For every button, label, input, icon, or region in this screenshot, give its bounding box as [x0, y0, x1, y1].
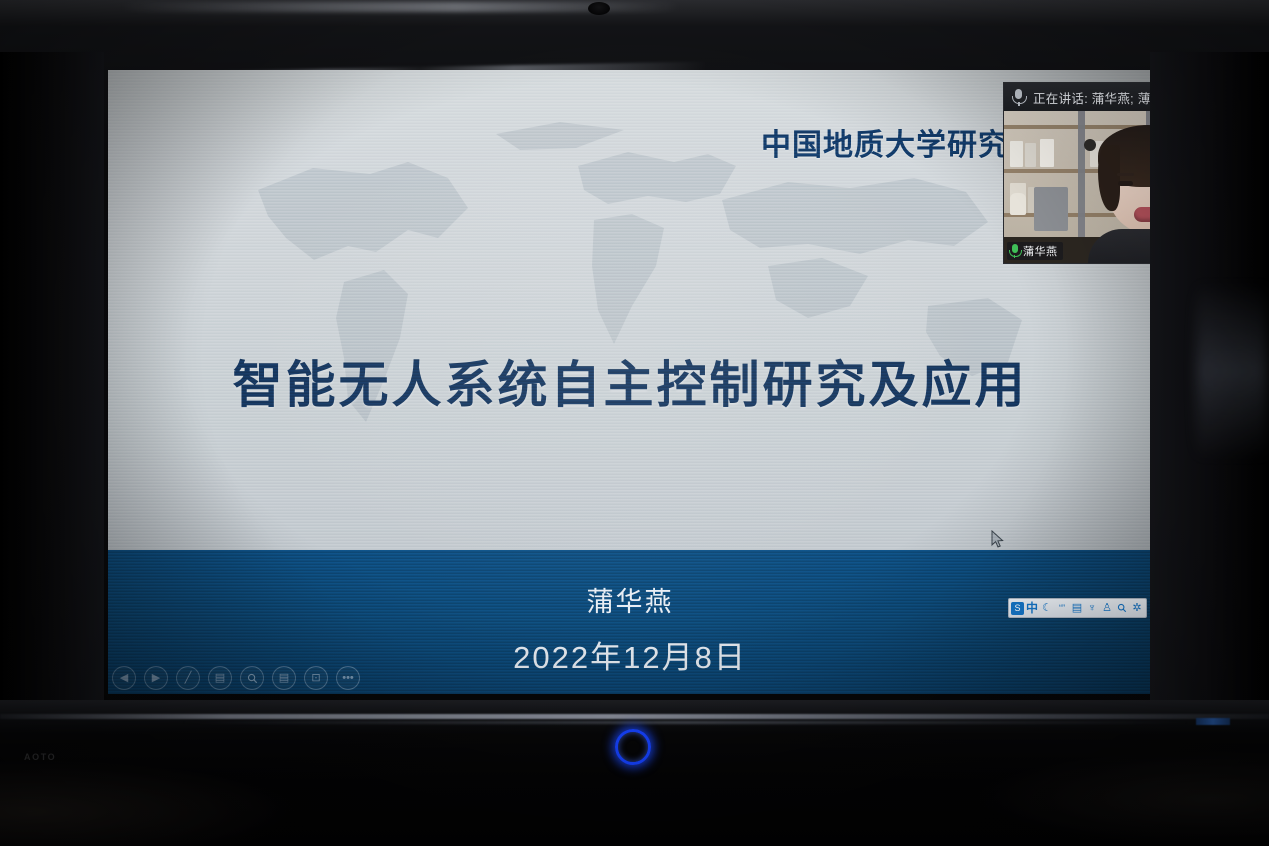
participant-brow-left: [1117, 173, 1134, 176]
slide-main-title: 智能无人系统自主控制研究及应用: [108, 345, 1152, 417]
pen-tool-button[interactable]: ╱: [176, 666, 200, 690]
ime-punctuation-icon[interactable]: “”: [1055, 601, 1069, 616]
magnifier-icon: [247, 673, 258, 684]
ime-toolbar[interactable]: S 中 ☾ “” ▤ ♆ ♙ ✲: [1008, 598, 1147, 618]
all-slides-button[interactable]: ▤: [208, 666, 232, 690]
ceiling-fixture: [588, 2, 610, 15]
bezel-highlight: [0, 714, 1269, 719]
ime-mode-moon-icon[interactable]: ☾: [1040, 601, 1054, 616]
room-ambient-light-right: [980, 752, 1269, 846]
participant-eye-left: [1118, 181, 1133, 186]
room-photo: 中国地质大学研究生 智能无人系统自主控制研究及应用 蒲华燕 2022年12月8日…: [0, 0, 1269, 846]
display-left-dark-area: [0, 52, 104, 726]
participant-name-badge: 蒲华燕: [1007, 242, 1063, 260]
ime-search-icon[interactable]: [1115, 601, 1129, 616]
next-slide-button[interactable]: ▶: [144, 666, 168, 690]
microphone-green-icon: [1009, 244, 1020, 258]
presenter-view-button[interactable]: ⊡: [304, 666, 328, 690]
presentation-toolbar[interactable]: ◀ ▶ ╱ ▤ ▤ ⊡ •••: [112, 666, 360, 690]
power-led-ring: [615, 729, 651, 765]
ime-settings-icon[interactable]: ✲: [1130, 601, 1144, 616]
powerpoint-slide[interactable]: 中国地质大学研究生 智能无人系统自主控制研究及应用 蒲华燕 2022年12月8日…: [108, 70, 1152, 694]
ime-language-mode[interactable]: 中: [1025, 601, 1039, 616]
room-ambient-light-left: [0, 760, 300, 846]
slide-header-text: 中国地质大学研究生: [761, 120, 1040, 164]
participant-hair-left: [1098, 145, 1120, 211]
ime-user-icon[interactable]: ♙: [1100, 601, 1114, 616]
display-brand-logo: AOTO: [24, 752, 56, 762]
participant-name-text: 蒲华燕: [1023, 243, 1058, 259]
zoom-slide-button[interactable]: [240, 666, 264, 690]
ime-skin-icon[interactable]: ♆: [1085, 601, 1099, 616]
subtitles-button[interactable]: ▤: [272, 666, 296, 690]
previous-slide-button[interactable]: ◀: [112, 666, 136, 690]
more-options-button[interactable]: •••: [336, 666, 360, 690]
microphone-icon: [1012, 89, 1025, 106]
slide-presenter-name: 蒲华燕: [108, 580, 1152, 619]
bezel-highlight-secondary: [180, 721, 1190, 724]
ime-keyboard-icon[interactable]: ▤: [1070, 601, 1084, 616]
bezel-blue-indicator: [1196, 718, 1230, 725]
shared-desktop: 中国地质大学研究生 智能无人系统自主控制研究及应用 蒲华燕 2022年12月8日…: [0, 26, 1269, 726]
mouse-cursor-on-slide: [991, 530, 1004, 549]
display-right-reflection: [1196, 281, 1268, 461]
ime-logo-icon[interactable]: S: [1011, 602, 1024, 615]
magnifier-icon: [1117, 603, 1127, 613]
